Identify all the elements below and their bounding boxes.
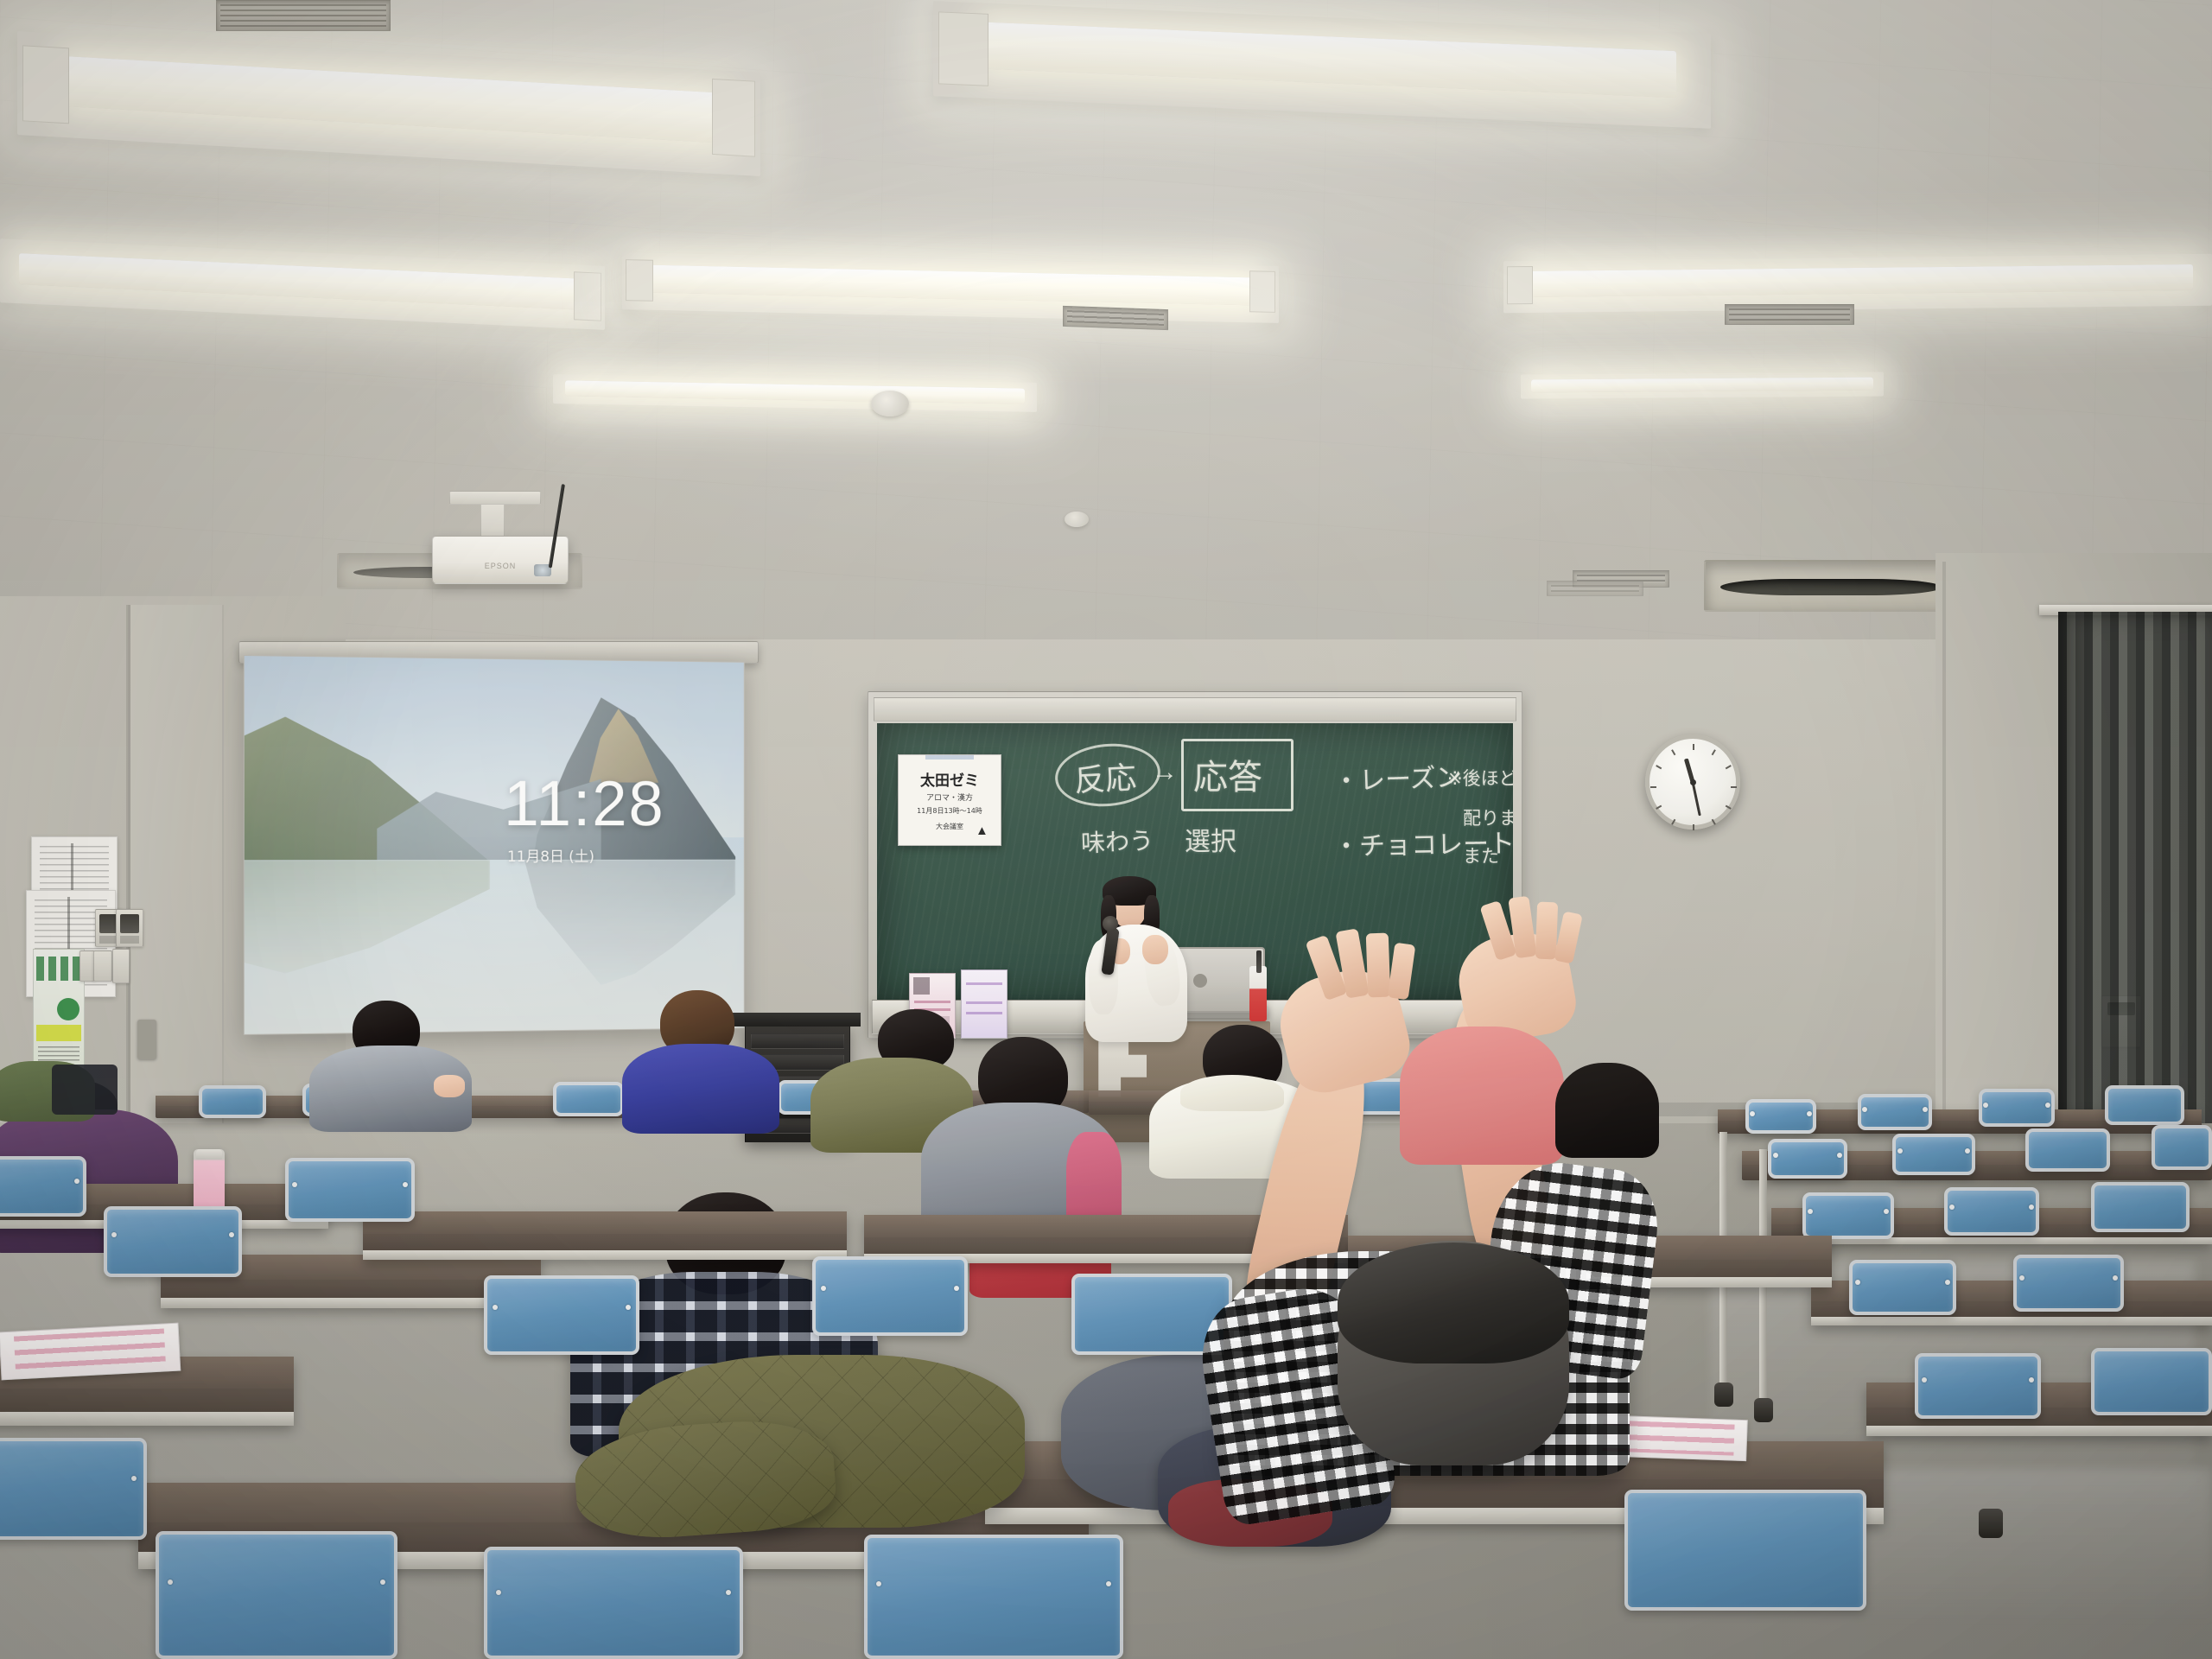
eco-poster — [33, 949, 85, 1071]
seminar-sign-line3: 大会議室 — [899, 822, 1001, 831]
ceiling-vent — [1063, 306, 1168, 330]
chair[interactable] — [553, 1082, 624, 1116]
chair[interactable] — [2152, 1125, 2212, 1170]
attendee-hair — [1338, 1243, 1569, 1363]
chair[interactable] — [1745, 1099, 1816, 1134]
chalk-text-choice: 選択 — [1185, 820, 1236, 858]
ceiling-vent — [1547, 581, 1643, 596]
chair[interactable] — [484, 1547, 743, 1659]
chair[interactable] — [104, 1206, 242, 1277]
table-caster — [1714, 1382, 1733, 1407]
clock-center-pin — [1690, 779, 1696, 785]
attendee-pink-top — [1400, 1027, 1564, 1165]
chair[interactable] — [2091, 1348, 2212, 1415]
ceiling-light-fixture — [1521, 372, 1884, 399]
windows-lockscreen: 11:28 11月8日 (土) — [245, 656, 744, 1034]
chair[interactable] — [1892, 1134, 1975, 1175]
lockscreen-clock: 11:28 — [504, 766, 665, 840]
chair[interactable] — [285, 1158, 415, 1222]
table-caster — [1754, 1398, 1773, 1422]
chair[interactable] — [0, 1438, 147, 1540]
attendee — [921, 1037, 1120, 1236]
chalk-arrow: → — [1152, 758, 1178, 787]
seminar-sign-title: 太田ゼミ — [899, 768, 1001, 790]
chair[interactable] — [1915, 1353, 2041, 1419]
ceiling-projector: EPSON — [432, 536, 569, 584]
wall-outlet[interactable] — [93, 950, 112, 982]
projector-mount-plate — [449, 491, 541, 505]
chair[interactable] — [1849, 1260, 1956, 1315]
classroom-photo-scene: EPSON — [0, 0, 2212, 1659]
seminar-sign-line1: アロマ・漢方 — [899, 791, 1001, 803]
seminar-sign-line2: 11月8日13時〜14時 — [899, 806, 1001, 816]
chair[interactable] — [1858, 1094, 1932, 1130]
chair[interactable] — [1624, 1490, 1866, 1611]
chair[interactable] — [1979, 1089, 2055, 1127]
finger — [1388, 943, 1416, 1001]
chalk-bullet-raisin: ・レーズン — [1332, 755, 1462, 798]
classroom-door[interactable] — [128, 605, 224, 1158]
chair[interactable] — [2091, 1182, 2190, 1232]
smartphone[interactable] — [52, 1065, 118, 1115]
presenter — [1082, 878, 1196, 1042]
chair[interactable] — [864, 1535, 1123, 1659]
attendee-hand — [434, 1075, 465, 1097]
ceiling-vent — [216, 0, 391, 31]
finger — [1366, 933, 1391, 998]
presenter-hand-right — [1142, 935, 1168, 964]
blackboard-top-rail — [874, 697, 1516, 721]
microphone-head — [1103, 916, 1118, 931]
finger — [1554, 911, 1583, 963]
light-switch-plate[interactable] — [116, 909, 143, 947]
door-handle[interactable] — [137, 1020, 156, 1059]
clock-minute-hand — [1692, 782, 1701, 817]
ceiling-light-fixture — [1503, 254, 2212, 314]
smoke-detector-icon — [871, 391, 909, 416]
chalk-note-line2: 配ります — [1463, 804, 1513, 830]
chair[interactable] — [484, 1275, 639, 1355]
attendee-body — [622, 1044, 779, 1134]
attendee-head — [1555, 1063, 1659, 1158]
chair[interactable] — [812, 1256, 968, 1336]
chalk-ellipse-annotation — [1052, 740, 1163, 810]
handout-paper[interactable] — [0, 1323, 181, 1381]
ceiling-vent — [1725, 304, 1854, 325]
chalk-bullet-chocolate: ・チョコレート — [1333, 822, 1513, 863]
projection-screen: 11:28 11月8日 (土) — [244, 655, 745, 1035]
chair[interactable] — [2105, 1085, 2184, 1125]
table-caster — [1979, 1509, 2003, 1538]
chair[interactable] — [2013, 1255, 2124, 1312]
chalk-text-taste: 味わう — [1080, 823, 1154, 860]
chalk-note-line1: ※後ほど — [1447, 765, 1513, 791]
chair[interactable] — [1768, 1139, 1847, 1179]
chalk-text-reaction: 反応 — [1073, 753, 1138, 801]
projector-brand-label: EPSON — [485, 562, 517, 570]
chalk-box-annotation — [1181, 739, 1294, 811]
wall-outlet[interactable] — [112, 949, 130, 983]
chalk-text-response: 応答 — [1193, 749, 1262, 799]
wall-clock — [1645, 734, 1740, 829]
chalk-note-line3: また — [1463, 842, 1499, 868]
chair[interactable] — [1802, 1192, 1894, 1239]
chair[interactable] — [0, 1156, 86, 1217]
seminar-notice-sign: 太田ゼミ アロマ・漢方 11月8日13時〜14時 大会議室 ▲ — [898, 754, 1001, 846]
smoke-detector-icon — [1065, 512, 1089, 527]
finger — [1535, 902, 1558, 960]
chair[interactable] — [156, 1531, 397, 1659]
attendee — [619, 990, 783, 1128]
chair[interactable] — [199, 1085, 266, 1118]
chair[interactable] — [1944, 1187, 2039, 1236]
attendee — [304, 1001, 477, 1130]
desk — [363, 1211, 847, 1260]
chair[interactable] — [2025, 1128, 2110, 1172]
attendee-raising-hands — [1232, 880, 1664, 1467]
hvac-air-outlet — [1704, 560, 1958, 612]
person-icon: ▲ — [976, 823, 988, 838]
lockscreen-date: 11月8日 (土) — [507, 844, 594, 866]
